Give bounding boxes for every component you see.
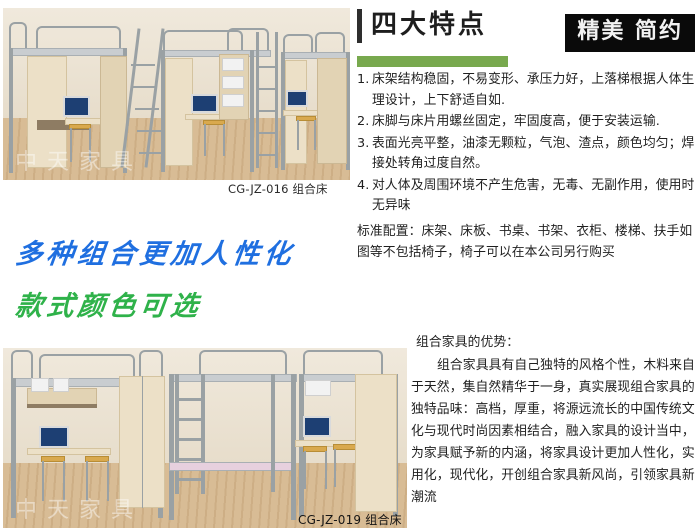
feature-item: 2. 床脚与床片用螺丝固定，牢固度高，便于安装运输. [357,112,695,133]
ladder-rail [256,32,259,168]
bed-post [169,374,174,520]
ladder-step [257,110,277,112]
ladder-step [176,398,202,401]
chair-leg [297,120,299,150]
feature-text: 床脚与床片用螺丝固定，牢固度高，便于安装运输. [372,112,695,133]
heading-title: 四大特点 [371,8,487,42]
wardrobe-panel [27,56,67,168]
feature-text: 对人体及周围环境不产生危害，无毒、无副作用，使用时无异味 [372,176,695,217]
feature-number: 1. [357,70,372,111]
cabinet-door [317,58,347,164]
feature-text: 表面光亮平整，油漆无颗粒，气泡、渣点，颜色均匀；焊接处转角过度自然。 [372,134,695,175]
ladder-step [257,132,277,134]
chair-seat [85,456,109,462]
chair-seat [296,116,316,121]
books [222,94,244,107]
chair-seat [41,456,65,462]
photo-caption-bottom: CG-JZ-019 组合床 [298,511,402,528]
books [305,380,331,396]
bed-mattress [9,48,127,56]
standard-configuration-note: 标准配置：床架、床板、书桌、书架、衣柜、楼梯、扶手如图等不包括椅子，椅子可以在本… [357,222,695,263]
wardrobe-panel [165,58,193,166]
heading-accent-bar [357,9,362,43]
bed-post [11,378,16,518]
feature-item: 4. 对人体及周围环境不产生危害，无毒、无副作用，使用时无异味 [357,176,695,217]
computer-monitor [63,96,90,117]
bed-mattress [161,50,271,57]
ladder-rail [201,374,205,494]
chair-leg [70,128,72,162]
chair-leg [107,461,109,501]
ladder-rail [271,374,275,492]
ladder-step [257,66,277,68]
books [31,378,49,392]
ladder-rail [175,374,179,494]
product-detail-page: 中天家具 CG-JZ-016 组合床 四大特点 精美 简约 1. 床架结构稳固，… [0,0,695,530]
lower-bed-mattress [169,462,295,471]
bed-mattress [169,374,297,382]
ladder-step [176,418,202,421]
feature-item: 1. 床架结构稳固，不易变形、承压力好，上落梯根据人体生理设计，上下舒适自如. [357,70,695,111]
bed-guardrail [39,354,135,378]
ladder-rail [275,32,278,168]
ladder-step [131,64,155,66]
books [222,58,244,71]
product-photo-cg-jz-019: 中天家具 [3,348,407,528]
features-heading: 四大特点 [357,8,487,43]
bed-guardrail [11,350,33,380]
quality-badge: 精美 简约 [565,14,695,52]
feature-number: 4. [357,176,372,217]
chair-leg [334,449,336,487]
wardrobe-seam [142,376,143,508]
bed-guardrail [36,26,121,48]
desk-top [27,448,111,455]
ladder-step [176,458,202,461]
computer-monitor [39,426,69,448]
feature-list: 1. 床架结构稳固，不易变形、承压力好，上落梯根据人体生理设计，上下舒适自如. … [357,70,695,218]
computer-monitor [286,90,308,107]
bed-guardrail [139,350,163,378]
ladder-rail [291,374,295,492]
ladder-step [176,478,202,481]
bed-post [9,48,13,173]
chair-seat [203,120,225,125]
chair-leg [223,124,225,156]
chair-leg [63,461,65,501]
laptop-screen [191,94,218,113]
chair-leg [204,124,206,156]
ladder-step [137,130,161,132]
features-heading-row: 四大特点 精美 简约 [357,8,695,58]
chair-leg [304,451,306,489]
bed-guardrail [199,350,287,374]
chair-leg [89,128,91,162]
feature-text: 床架结构稳固，不易变形、承压力好，上落梯根据人体生理设计，上下舒适自如. [372,70,695,111]
slogan-line-2: 款式颜色可选 [14,284,205,323]
advantage-title: 组合家具的优势： [416,331,519,350]
books [53,378,69,392]
bed-guardrail [227,28,269,50]
ladder-step [176,438,202,441]
product-photo-cg-jz-016: 中天家具 [3,8,350,180]
heading-underline-bar [357,56,508,67]
chair-leg [86,461,88,501]
photo-caption-top: CG-JZ-016 组合床 [228,181,328,197]
slogan-line-1: 多种组合更加人性化 [14,232,298,271]
ladder-step [257,88,277,90]
ladder-step [139,152,163,154]
bed-guardrail [303,350,383,374]
ladder-step [135,108,159,110]
advantage-body: 组合家具具有自己独特的风格个性，木料来自于天然，集自然精华于一身，真实展现组合家… [411,355,695,509]
chair-seat [333,444,357,450]
chair-leg [42,461,44,501]
wardrobe-door [355,374,397,512]
computer-monitor [303,416,331,437]
chair-seat [303,446,327,452]
bed-guardrail [283,34,313,52]
chair-seat [69,124,91,129]
ladder-step [133,86,157,88]
books [222,76,244,89]
feature-item: 3. 表面光亮平整，油漆无颗粒，气泡、渣点，颜色均匀；焊接处转角过度自然。 [357,134,695,175]
bed-post [250,50,254,172]
bed-guardrail [315,32,345,52]
bed-guardrail [9,22,27,50]
ladder-step [257,154,277,156]
feature-number: 3. [357,134,372,175]
feature-number: 2. [357,112,372,133]
desk-shelf [27,404,97,408]
chair-leg [325,451,327,489]
chair-leg [314,120,316,150]
